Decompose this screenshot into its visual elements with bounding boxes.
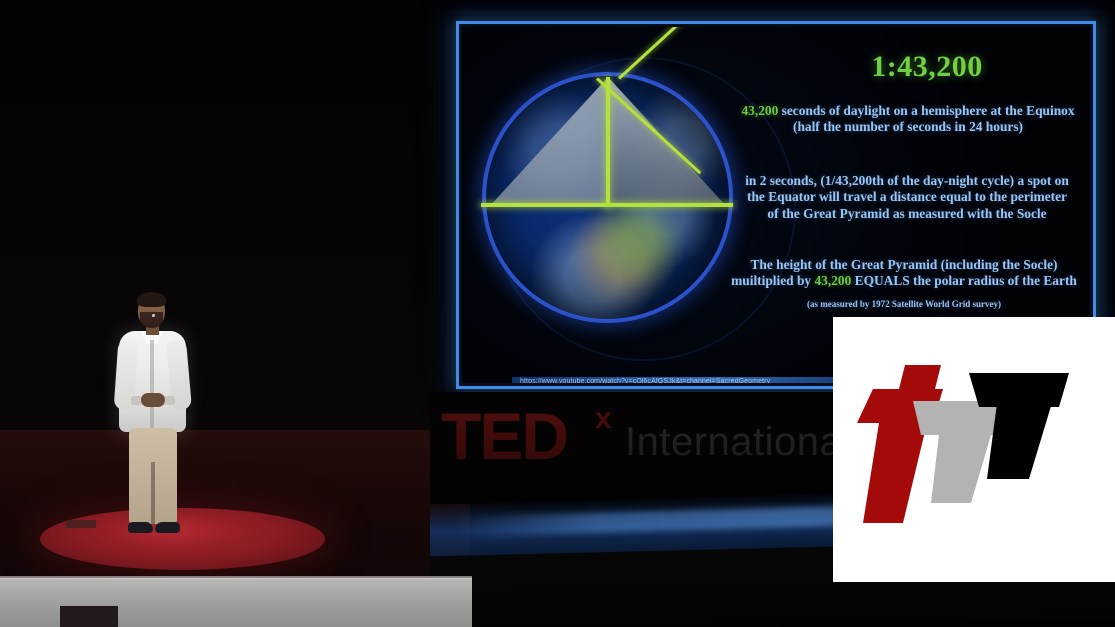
tedx-x-text: x [595,402,612,436]
speaker-hair [137,292,166,307]
highlight-43200-b: 43,200 [814,273,851,288]
speaker-shirt-placket [150,340,154,430]
speaker-left-shoe [128,522,153,533]
slide-paragraph-daylight: 43,200 seconds of daylight on a hemisphe… [732,103,1084,136]
foreground-band-recess [60,606,118,627]
ted-logo-text: TED [441,398,567,474]
logo-t-red-stem [863,423,927,523]
paragraph-3-line-2-pre: muiltiplied by [731,273,814,288]
logo-t-gray-stem [931,401,1001,503]
screenshot-root: 1:43,200 43,200 seconds of daylight on a… [0,0,1115,627]
highlight-43200-a: 43,200 [741,103,778,118]
ttt-logo-icon [851,345,1099,555]
speaker-figure [108,294,200,544]
slide-source-url[interactable]: https://www.youtube.com/watch?v=cQl6cAfG… [520,378,770,383]
slide-paragraph-polar-radius: The height of the Great Pyramid (includi… [720,257,1088,290]
paragraph-2-line-2: the Equator will travel a distance equal… [726,189,1088,205]
slide-title: 1:43,200 [782,50,1072,84]
speaker-hands [141,393,165,407]
speaker-right-shoe [155,522,180,533]
pyramid-base-line [481,203,733,207]
paragraph-2-line-3: of the Great Pyramid as measured with th… [726,206,1088,222]
speaker-headset-mic-icon [152,314,155,317]
paragraph-3-line-2-post: EQUALS the polar radius of the Earth [851,273,1077,288]
paragraph-1-line-2: (half the number of seconds in 24 hours) [732,119,1084,135]
earth-pyramid-diagram [485,75,730,320]
paragraph-3-line-2: muiltiplied by 43,200 EQUALS the polar r… [720,273,1088,289]
speaker-trouser-seam [151,462,155,524]
paragraph-1-line-1-rest: seconds of daylight on a hemisphere at t… [778,103,1074,118]
tedx-international-text: International [625,420,852,465]
slide-subnote-satellite-survey: (as measured by 1972 Satellite World Gri… [742,299,1066,310]
slide-paragraph-equator: in 2 seconds, (1/43,200th of the day-nig… [726,173,1088,222]
floor-marker [66,520,96,528]
foreground-band-edge [0,576,472,579]
ttt-logo-overlay [833,317,1115,582]
paragraph-2-line-1: in 2 seconds, (1/43,200th of the day-nig… [726,173,1088,189]
paragraph-3-line-1: The height of the Great Pyramid (includi… [720,257,1088,273]
pyramid-height-line [606,77,610,207]
paragraph-1-line-1: 43,200 seconds of daylight on a hemisphe… [732,103,1084,119]
